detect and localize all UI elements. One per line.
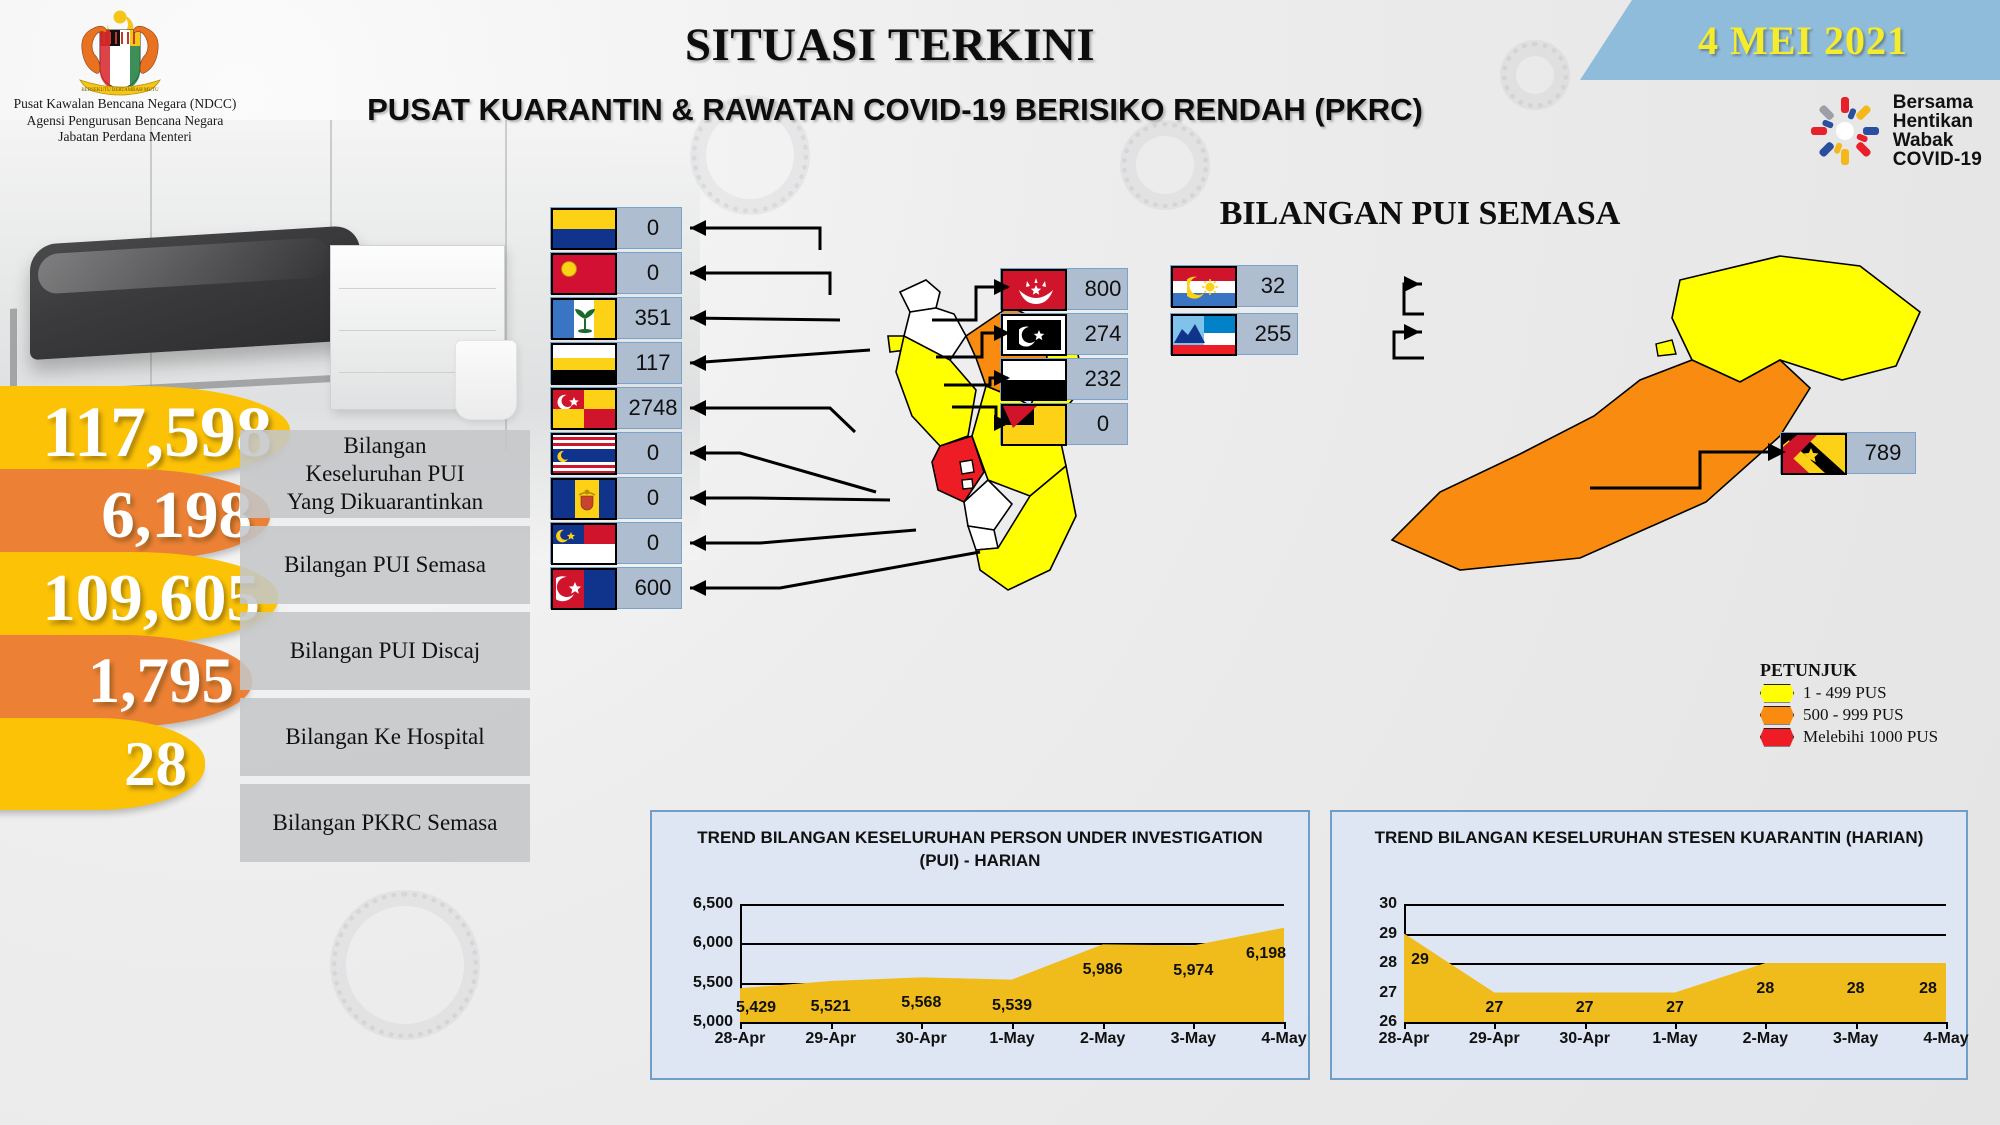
flag-putrajaya <box>551 433 617 475</box>
legend-label: Melebihi 1000 PUS <box>1803 727 1938 747</box>
state-value: 0 <box>617 433 689 473</box>
chart-y-tick: 6,500 <box>693 895 740 913</box>
chart-data-label: 28 <box>1919 980 1937 998</box>
chart-x-tick: 30-Apr <box>896 1030 947 1048</box>
summary-value: 6,198 <box>101 482 252 549</box>
waste-bin <box>455 340 517 420</box>
virus-graphic <box>330 890 480 1040</box>
chart-title: TREND BILANGAN KESELURUHAN PERSON UNDER … <box>652 812 1308 876</box>
chart-x-tick: 3-May <box>1171 1030 1216 1048</box>
chart-x-tick: 3-May <box>1833 1030 1878 1048</box>
state-row-selangor: 2748 <box>550 387 682 429</box>
flag-sabah <box>1171 314 1237 356</box>
chart-data-label: 27 <box>1576 999 1594 1017</box>
chart-tick-mark <box>1946 1022 1948 1029</box>
chart-data-label: 5,974 <box>1173 962 1213 980</box>
state-value: 274 <box>1067 314 1139 354</box>
chart-plot-area: 5,0005,5006,0006,50028-Apr5,42929-Apr5,5… <box>740 904 1284 1022</box>
chart-tick-mark <box>1193 1022 1195 1029</box>
summary-value: 28 <box>124 733 187 796</box>
campaign-line-4: COVID-19 <box>1893 150 1982 169</box>
map-legend: PETUNJUK 1 - 499 PUS 500 - 999 PUS Meleb… <box>1760 660 1938 747</box>
chart-x-tick: 1-May <box>1652 1030 1697 1048</box>
chart-x-tick: 28-Apr <box>1379 1030 1430 1048</box>
chart-data-label: 5,429 <box>736 999 776 1017</box>
state-value: 117 <box>617 343 689 383</box>
chart-y-tick: 5,500 <box>693 974 740 992</box>
summary-band-discharged: 109,605 <box>0 552 278 644</box>
flag-perlis <box>551 208 617 250</box>
state-row-sarawak: 789 <box>1780 432 1916 474</box>
chart-tick-mark <box>1675 1022 1677 1029</box>
chart-y-tick: 29 <box>1379 925 1404 943</box>
chart-plot-area: 262728293028-Apr2929-Apr2730-Apr271-May2… <box>1404 904 1946 1022</box>
map-title: BILANGAN PUI SEMASA <box>1160 195 1680 233</box>
flag-negeri-sembilan <box>551 523 617 565</box>
state-value: 0 <box>617 253 689 293</box>
state-row-kuala-lumpur: 0 <box>550 477 682 519</box>
state-value: 600 <box>617 568 689 608</box>
chart-x-tick: 4-May <box>1923 1030 1968 1048</box>
chart-data-label: 28 <box>1756 980 1774 998</box>
flag-sarawak <box>1781 433 1847 475</box>
chart-x-tick: 28-Apr <box>715 1030 766 1048</box>
chart-data-label: 5,539 <box>992 997 1032 1015</box>
state-row-negeri-sembilan: 0 <box>550 522 682 564</box>
state-row-kedah: 0 <box>550 252 682 294</box>
chart-data-label: 6,198 <box>1246 945 1286 963</box>
date-text: 4 MEI 2021 <box>1672 17 1908 64</box>
legend-title: PETUNJUK <box>1760 660 1938 681</box>
summary-band-hospital: 1,795 <box>0 635 252 727</box>
chart-tick-mark <box>921 1022 923 1029</box>
chart-data-label: 5,986 <box>1083 961 1123 979</box>
bersama-hentikan-wabak-icon <box>1806 92 1884 170</box>
chart-data-label: 27 <box>1666 999 1684 1017</box>
chart-title: TREND BILANGAN KESELURUHAN STESEN KUARAN… <box>1332 812 1966 853</box>
summary-labels: BilanganKeseluruhan PUIYang Dikuarantink… <box>240 430 530 870</box>
chart-tick-mark <box>1494 1022 1496 1029</box>
chart-data-label: 29 <box>1411 951 1429 969</box>
chart-tick-mark <box>1765 1022 1767 1029</box>
agency-line-3: Jabatan Perdana Menteri <box>0 129 250 146</box>
flag-kuala-lumpur <box>551 478 617 520</box>
connector-arrow-sarawak <box>1580 430 1790 510</box>
date-badge: 4 MEI 2021 <box>1580 0 2000 80</box>
summary-label-total: BilanganKeseluruhan PUIYang Dikuarantink… <box>240 430 530 518</box>
summary-label-current: Bilangan PUI Semasa <box>240 526 530 604</box>
chart-stesen-kuarantin: TREND BILANGAN KESELURUHAN STESEN KUARAN… <box>1330 810 1968 1080</box>
chart-tick-mark <box>1404 1022 1406 1029</box>
agency-name: Pusat Kawalan Bencana Negara (NDCC) Agen… <box>0 96 250 146</box>
flag-kedah <box>551 253 617 295</box>
malaysia-coat-of-arms: BERSEKUTU BERTAMBAH MUTU <box>56 8 184 100</box>
legend-item: Melebihi 1000 PUS <box>1760 727 1938 747</box>
chart-x-tick: 2-May <box>1080 1030 1125 1048</box>
connector-arrows-right <box>1296 262 1426 372</box>
summary-band-current: 6,198 <box>0 469 270 561</box>
chart-data-label: 27 <box>1485 999 1503 1017</box>
summary-value: 1,795 <box>88 649 234 714</box>
chart-x-tick: 1-May <box>989 1030 1034 1048</box>
flag-selangor <box>551 388 617 430</box>
state-row-putrajaya: 0 <box>550 432 682 474</box>
state-value: 789 <box>1847 433 1919 473</box>
page-title: SITUASI TERKINI <box>300 18 1480 72</box>
chart-y-tick: 30 <box>1379 895 1404 913</box>
state-value: 800 <box>1067 269 1139 309</box>
chart-tick-mark <box>831 1022 833 1029</box>
chart-x-tick: 29-Apr <box>1469 1030 1520 1048</box>
chart-data-label: 28 <box>1847 980 1865 998</box>
chart-y-tick: 26 <box>1379 1013 1404 1031</box>
chart-pui-harian: TREND BILANGAN KESELURUHAN PERSON UNDER … <box>650 810 1310 1080</box>
flag-perak <box>551 343 617 385</box>
summary-label-hospital: Bilangan Ke Hospital <box>240 698 530 776</box>
chart-y-tick: 6,000 <box>693 934 740 952</box>
chart-x-tick: 29-Apr <box>805 1030 856 1048</box>
campaign-line-2: Hentikan <box>1893 112 1982 131</box>
chart-tick-mark <box>740 1022 742 1029</box>
chart-data-label: 5,568 <box>901 994 941 1012</box>
chart-tick-mark <box>1012 1022 1014 1029</box>
state-row-johor: 600 <box>550 567 682 609</box>
state-value: 232 <box>1067 359 1139 399</box>
state-row-labuan: 32 <box>1170 265 1298 307</box>
state-value: 0 <box>1067 404 1139 444</box>
legend-label: 1 - 499 PUS <box>1803 683 1887 703</box>
map-region-labuan <box>1656 340 1676 356</box>
campaign-line-3: Wabak <box>1893 131 1982 150</box>
map-region-sabah <box>1672 256 1920 382</box>
bed-frame <box>10 291 350 399</box>
chart-y-tick: 5,000 <box>693 1013 740 1031</box>
chart-tick-mark <box>1856 1022 1858 1029</box>
campaign-line-1: Bersama <box>1893 93 1982 112</box>
campaign-logo: Bersama Hentikan Wabak COVID-19 <box>1806 92 1982 170</box>
chart-tick-mark <box>1585 1022 1587 1029</box>
summary-value: 117,598 <box>42 396 272 468</box>
legend-swatch-orange <box>1760 706 1794 725</box>
legend-swatch-red <box>1760 728 1794 747</box>
state-value: 0 <box>617 478 689 518</box>
chart-tick-mark <box>1103 1022 1105 1029</box>
legend-label: 500 - 999 PUS <box>1803 705 1904 725</box>
state-row-perak: 117 <box>550 342 682 384</box>
agency-line-1: Pusat Kawalan Bencana Negara (NDCC) <box>0 96 250 113</box>
state-row-perlis: 0 <box>550 207 682 249</box>
chart-y-tick: 28 <box>1379 954 1404 972</box>
summary-value: 109,605 <box>42 565 260 632</box>
flag-johor <box>551 568 617 610</box>
state-value: 351 <box>617 298 689 338</box>
chart-x-tick: 2-May <box>1743 1030 1788 1048</box>
legend-item: 1 - 499 PUS <box>1760 683 1938 703</box>
summary-band-pkrc: 28 <box>0 718 205 810</box>
chart-y-tick: 27 <box>1379 984 1404 1002</box>
chart-data-label: 5,521 <box>811 998 851 1016</box>
summary-label-discharged: Bilangan PUI Discaj <box>240 612 530 690</box>
chart-tick-mark <box>1284 1022 1286 1029</box>
svg-text:BERSEKUTU BERTAMBAH MUTU: BERSEKUTU BERTAMBAH MUTU <box>81 88 159 93</box>
chart-x-tick: 30-Apr <box>1559 1030 1610 1048</box>
page-subtitle: PUSAT KUARANTIN & RAWATAN COVID-19 BERIS… <box>230 92 1560 128</box>
chart-x-tick: 4-May <box>1261 1030 1306 1048</box>
agency-line-2: Agensi Pengurusan Bencana Negara <box>0 113 250 130</box>
state-value: 0 <box>617 523 689 563</box>
connector-arrows-center <box>930 265 1020 465</box>
state-row-sabah: 255 <box>1170 313 1298 355</box>
state-value: 0 <box>617 208 689 248</box>
flag-labuan <box>1171 266 1237 308</box>
legend-swatch-yellow <box>1760 684 1794 703</box>
flag-pulau-pinang <box>551 298 617 340</box>
legend-item: 500 - 999 PUS <box>1760 705 1938 725</box>
state-row-pulau-pinang: 351 <box>550 297 682 339</box>
summary-label-pkrc: Bilangan PKRC Semasa <box>240 784 530 862</box>
state-value: 2748 <box>617 388 689 428</box>
